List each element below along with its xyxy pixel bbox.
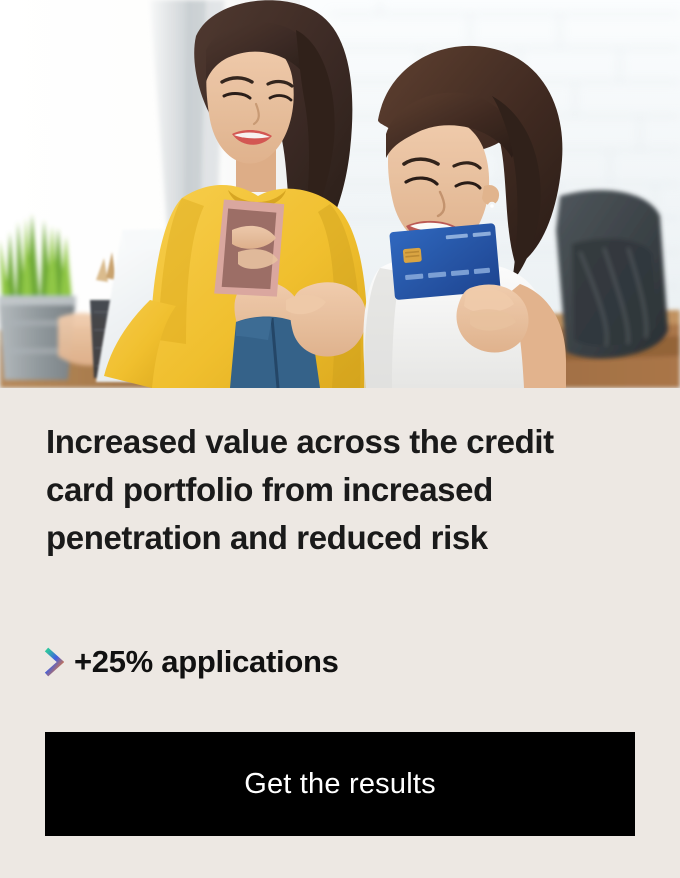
stat-label: +25% applications — [74, 646, 339, 677]
promo-content: Increased value across the credit card p… — [0, 388, 680, 878]
hero-photo-illustration — [0, 0, 680, 388]
promo-card: Increased value across the credit card p… — [0, 0, 680, 878]
page-title: Increased value across the credit card p… — [46, 418, 616, 562]
stat-highlight: +25% applications — [44, 646, 339, 677]
hero-image — [0, 0, 680, 388]
chevron-right-gradient-icon — [44, 647, 64, 677]
get-the-results-button[interactable]: Get the results — [45, 732, 635, 836]
